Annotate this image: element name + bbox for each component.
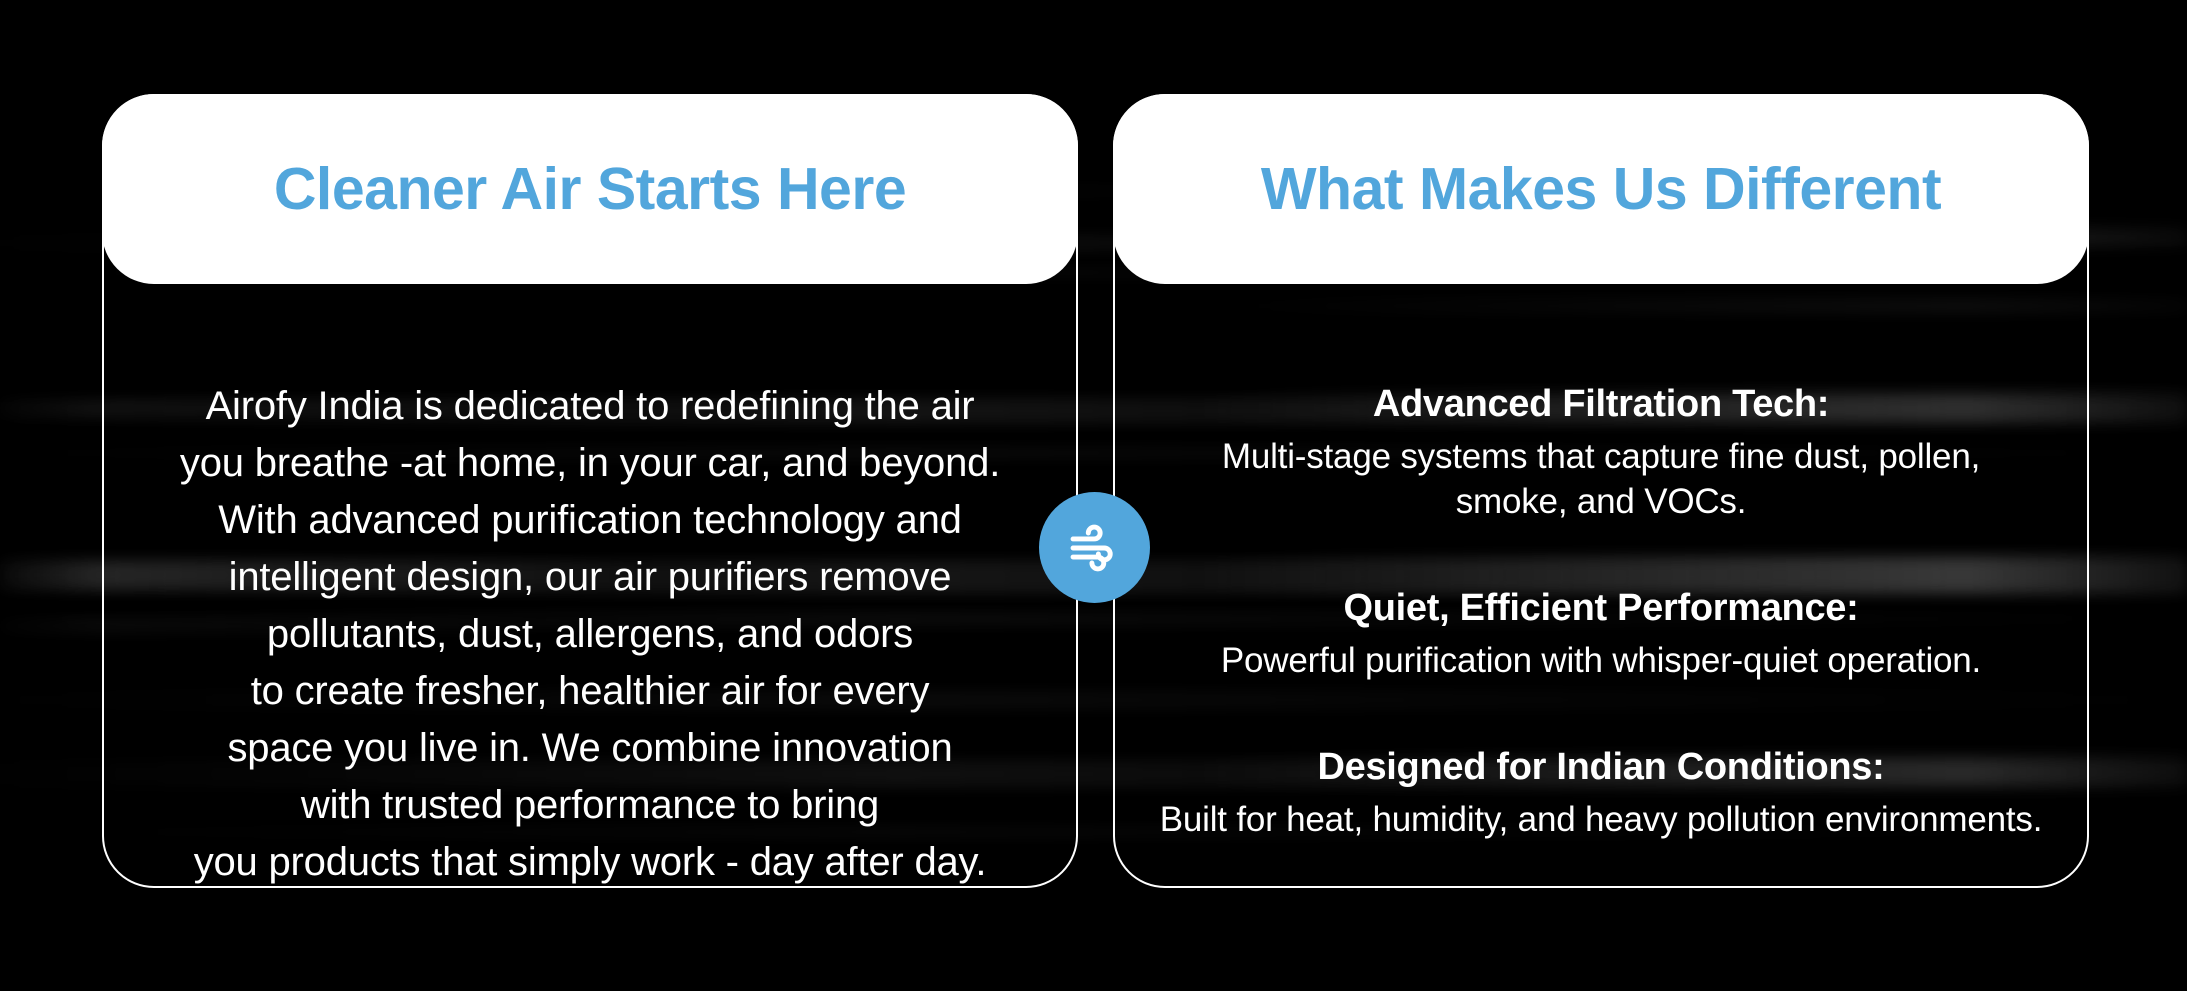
center-wind-badge	[1039, 492, 1150, 603]
about-paragraph-line: to create fresher, healthier air for eve…	[144, 663, 1036, 720]
feature-description-line: smoke, and VOCs.	[1139, 479, 2063, 524]
panel-right-title: What Makes Us Different	[1261, 160, 1941, 219]
feature-item: Advanced Filtration Tech: Multi-stage sy…	[1139, 378, 2063, 524]
about-paragraph: Airofy India is dedicated to redefining …	[104, 378, 1076, 891]
feature-item: Designed for Indian Conditions: Built fo…	[1139, 741, 2063, 842]
about-paragraph-line: pollutants, dust, allergens, and odors	[144, 606, 1036, 663]
panel-right-header: What Makes Us Different	[1113, 94, 2089, 284]
about-paragraph-line: you products that simply work - day afte…	[144, 834, 1036, 891]
panel-right-body: Advanced Filtration Tech: Multi-stage sy…	[1115, 286, 2087, 886]
feature-heading: Advanced Filtration Tech:	[1139, 378, 2063, 430]
feature-list: Advanced Filtration Tech: Multi-stage sy…	[1115, 378, 2087, 842]
wind-icon	[1064, 517, 1126, 579]
panels-container: Cleaner Air Starts Here Airofy India is …	[0, 0, 2187, 991]
feature-item: Quiet, Efficient Performance: Powerful p…	[1139, 582, 2063, 683]
about-paragraph-line: intelligent design, our air purifiers re…	[144, 549, 1036, 606]
about-paragraph-line: Airofy India is dedicated to redefining …	[144, 378, 1036, 435]
feature-description: Powerful purification with whisper-quiet…	[1139, 638, 2063, 683]
about-paragraph-line: with trusted performance to bring	[144, 777, 1036, 834]
feature-description-line: Powerful purification with whisper-quiet…	[1139, 638, 2063, 683]
panel-left-body: Airofy India is dedicated to redefining …	[104, 286, 1076, 886]
about-paragraph-line: With advanced purification technology an…	[144, 492, 1036, 549]
panel-left-title: Cleaner Air Starts Here	[274, 160, 906, 219]
panel-what-makes-us-different: What Makes Us Different Advanced Filtrat…	[1113, 94, 2089, 888]
feature-description: Multi-stage systems that capture fine du…	[1139, 434, 2063, 524]
feature-heading: Quiet, Efficient Performance:	[1139, 582, 2063, 634]
feature-description-line: Built for heat, humidity, and heavy poll…	[1139, 797, 2063, 842]
feature-description-line: Multi-stage systems that capture fine du…	[1139, 434, 2063, 479]
about-paragraph-line: you breathe -at home, in your car, and b…	[144, 435, 1036, 492]
panel-cleaner-air: Cleaner Air Starts Here Airofy India is …	[102, 94, 1078, 888]
about-paragraph-line: space you live in. We combine innovation	[144, 720, 1036, 777]
panel-left-header: Cleaner Air Starts Here	[102, 94, 1078, 284]
feature-heading: Designed for Indian Conditions:	[1139, 741, 2063, 793]
feature-description: Built for heat, humidity, and heavy poll…	[1139, 797, 2063, 842]
